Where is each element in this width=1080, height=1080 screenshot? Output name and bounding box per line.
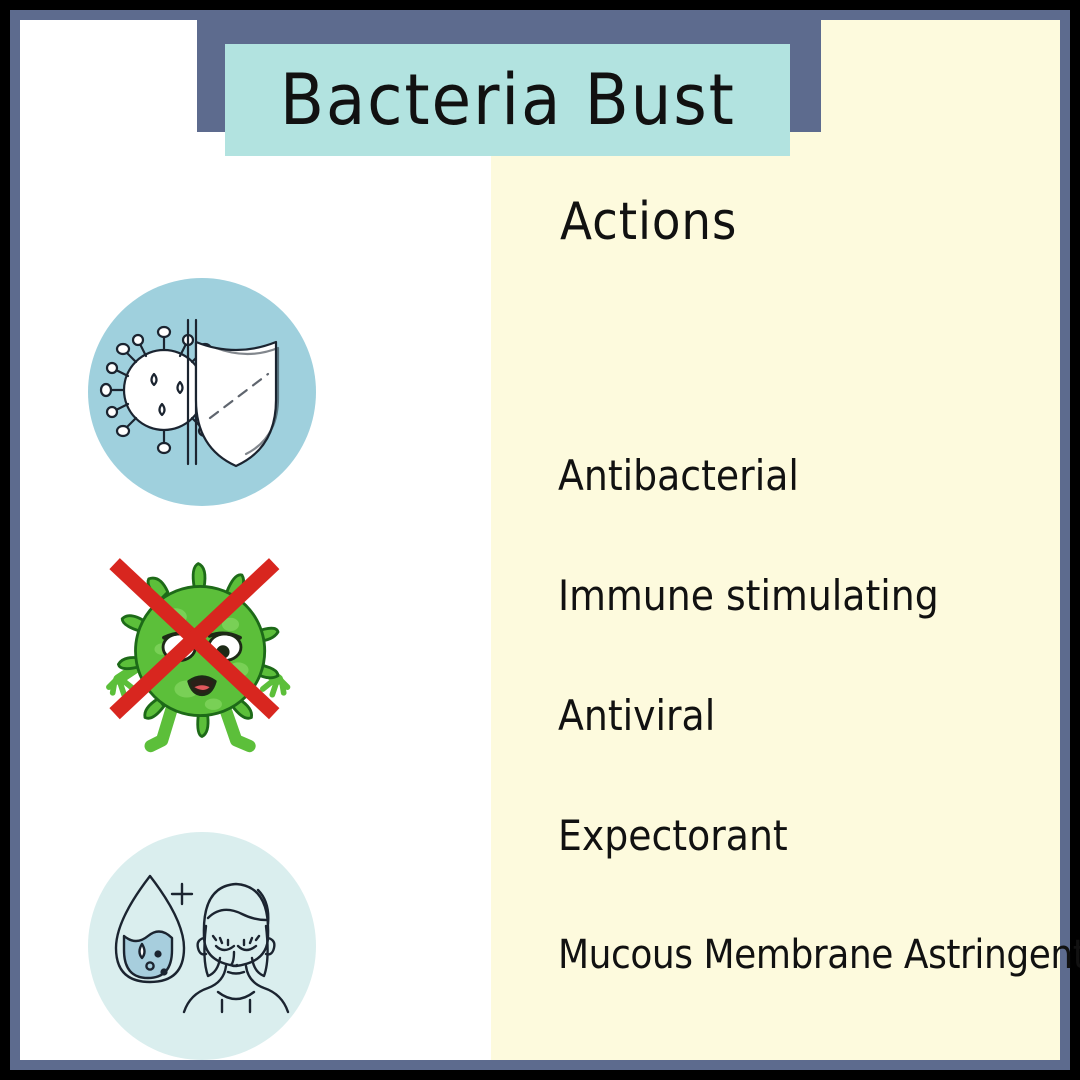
list-item: Antibacterial [558,455,1017,497]
virus-shield-glyph [88,278,316,506]
list-item: Antiviral [558,695,1017,737]
actions-heading: Actions [560,192,737,252]
poster-root: Bacteria Bust Actions Antibacterial Immu… [0,0,1080,1080]
virus-character-glyph [88,537,316,765]
list-item: Immune stimulating [558,575,1017,617]
list-item: Expectorant [558,815,1017,857]
page-title: Bacteria Bust [280,65,736,135]
list-item: Mucous Membrane Astringent [558,935,1017,975]
title-banner: Bacteria Bust [225,44,790,156]
actions-list: Antibacterial Immune stimulating Antivir… [558,455,1068,975]
droplet-face-glyph [88,832,316,1060]
crossed-out-virus-icon [88,537,316,765]
virus-blocked-by-shield-icon [88,278,316,506]
water-droplet-and-face-icon [88,832,316,1060]
